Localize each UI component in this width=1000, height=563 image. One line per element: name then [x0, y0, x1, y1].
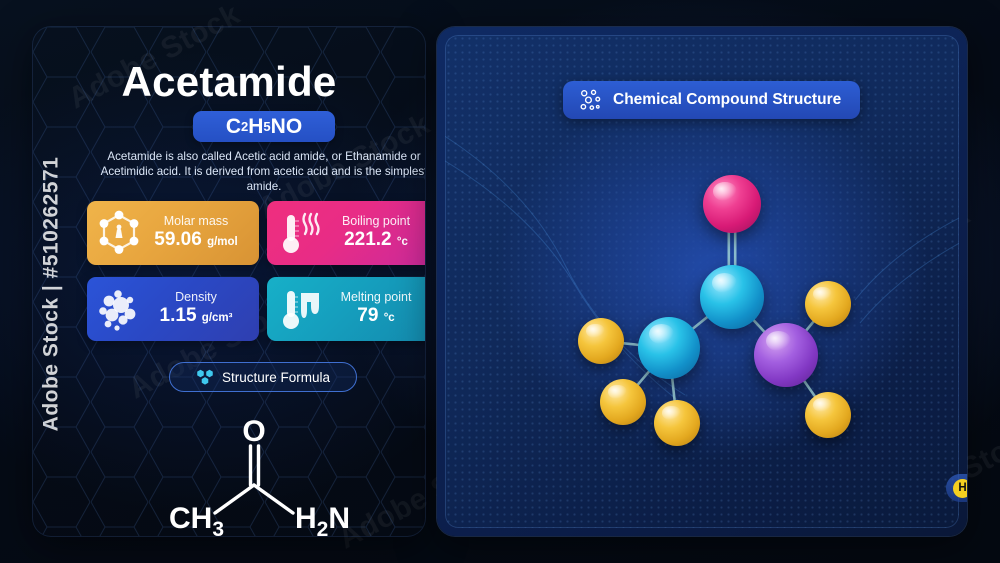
- structure-visualization-panel: Chemical Compound Structure H Hydrogen N…: [437, 27, 967, 536]
- formula-h: H: [248, 115, 263, 139]
- skeletal-atom-o: O: [242, 415, 265, 448]
- property-unit: g/mol: [207, 236, 238, 248]
- structure-panel-title: Chemical Compound Structure: [613, 91, 841, 109]
- h2n-n: N: [328, 502, 350, 535]
- property-value: 221.2: [344, 229, 392, 250]
- property-card-boiling-point: Boiling point 221.2 °c: [267, 201, 425, 265]
- h2n-h: H: [295, 502, 317, 535]
- property-value: 1.15: [160, 305, 197, 326]
- page-title: Acetamide: [33, 58, 425, 106]
- property-label: Melting point: [324, 290, 425, 305]
- sphere-cluster-icon: [94, 284, 144, 334]
- property-label: Density: [144, 290, 248, 305]
- skeletal-group-ch3: CH3: [169, 502, 224, 536]
- structure-formula-button[interactable]: Structure Formula: [169, 362, 357, 392]
- molecule-nodes-icon: [580, 89, 602, 111]
- atom-o-o1: [703, 175, 761, 233]
- structure-formula-label: Structure Formula: [222, 370, 330, 385]
- skeletal-group-h2n: H2N: [295, 502, 350, 536]
- hydrogen-badge-icon: H: [953, 479, 967, 498]
- formula-h-sub: 5: [263, 119, 270, 134]
- structure-panel-header: Chemical Compound Structure: [563, 81, 860, 119]
- atom-c-c2: [638, 317, 700, 379]
- hexagon-molecule-weight-icon: [94, 208, 144, 258]
- atom-c-c1: [700, 265, 764, 329]
- compound-description: Acetamide is also called Acetic acid ami…: [91, 149, 425, 194]
- hexagon-cluster-icon: [196, 369, 214, 386]
- property-unit: °c: [397, 236, 408, 248]
- ch3-main: CH: [169, 502, 212, 535]
- ch3-sub: 3: [212, 518, 224, 536]
- property-unit: g/cm³: [202, 312, 233, 324]
- legend-item-hydrogen[interactable]: H Hydrogen: [946, 474, 967, 502]
- thermometer-heat-icon: [274, 208, 324, 258]
- property-label: Boiling point: [324, 214, 425, 229]
- atom-h-h2: [600, 379, 646, 425]
- molecular-formula-badge: C2H5NO: [193, 111, 335, 142]
- formula-c-sub: 2: [241, 119, 248, 134]
- property-label: Molar mass: [144, 214, 248, 229]
- thermometer-melt-icon: [274, 284, 324, 334]
- atom-h-h1: [578, 318, 624, 364]
- skeletal-structure-diagram: O CH3 H2N: [155, 413, 385, 536]
- atom-h-h4: [805, 281, 851, 327]
- property-value: 59.06: [154, 229, 202, 250]
- property-value: 79: [357, 305, 378, 326]
- property-card-molar-mass: Molar mass 59.06 g/mol: [87, 201, 259, 265]
- property-unit: °c: [384, 312, 395, 324]
- atom-h-h5: [805, 392, 851, 438]
- h2n-sub: 2: [317, 518, 329, 536]
- property-card-density: Density 1.15 g/cm³: [87, 277, 259, 341]
- compound-info-panel: Acetamide C2H5NO Acetamide is also calle…: [33, 27, 425, 536]
- formula-c: C: [226, 115, 241, 139]
- formula-no: NO: [271, 115, 303, 139]
- property-card-melting-point: Melting point 79 °c: [267, 277, 425, 341]
- atom-n-n1: [754, 323, 818, 387]
- atom-h-h3: [654, 400, 700, 446]
- poster-canvas: Adobe Stock Adobe Stock Adobe Stock Adob…: [0, 0, 1000, 563]
